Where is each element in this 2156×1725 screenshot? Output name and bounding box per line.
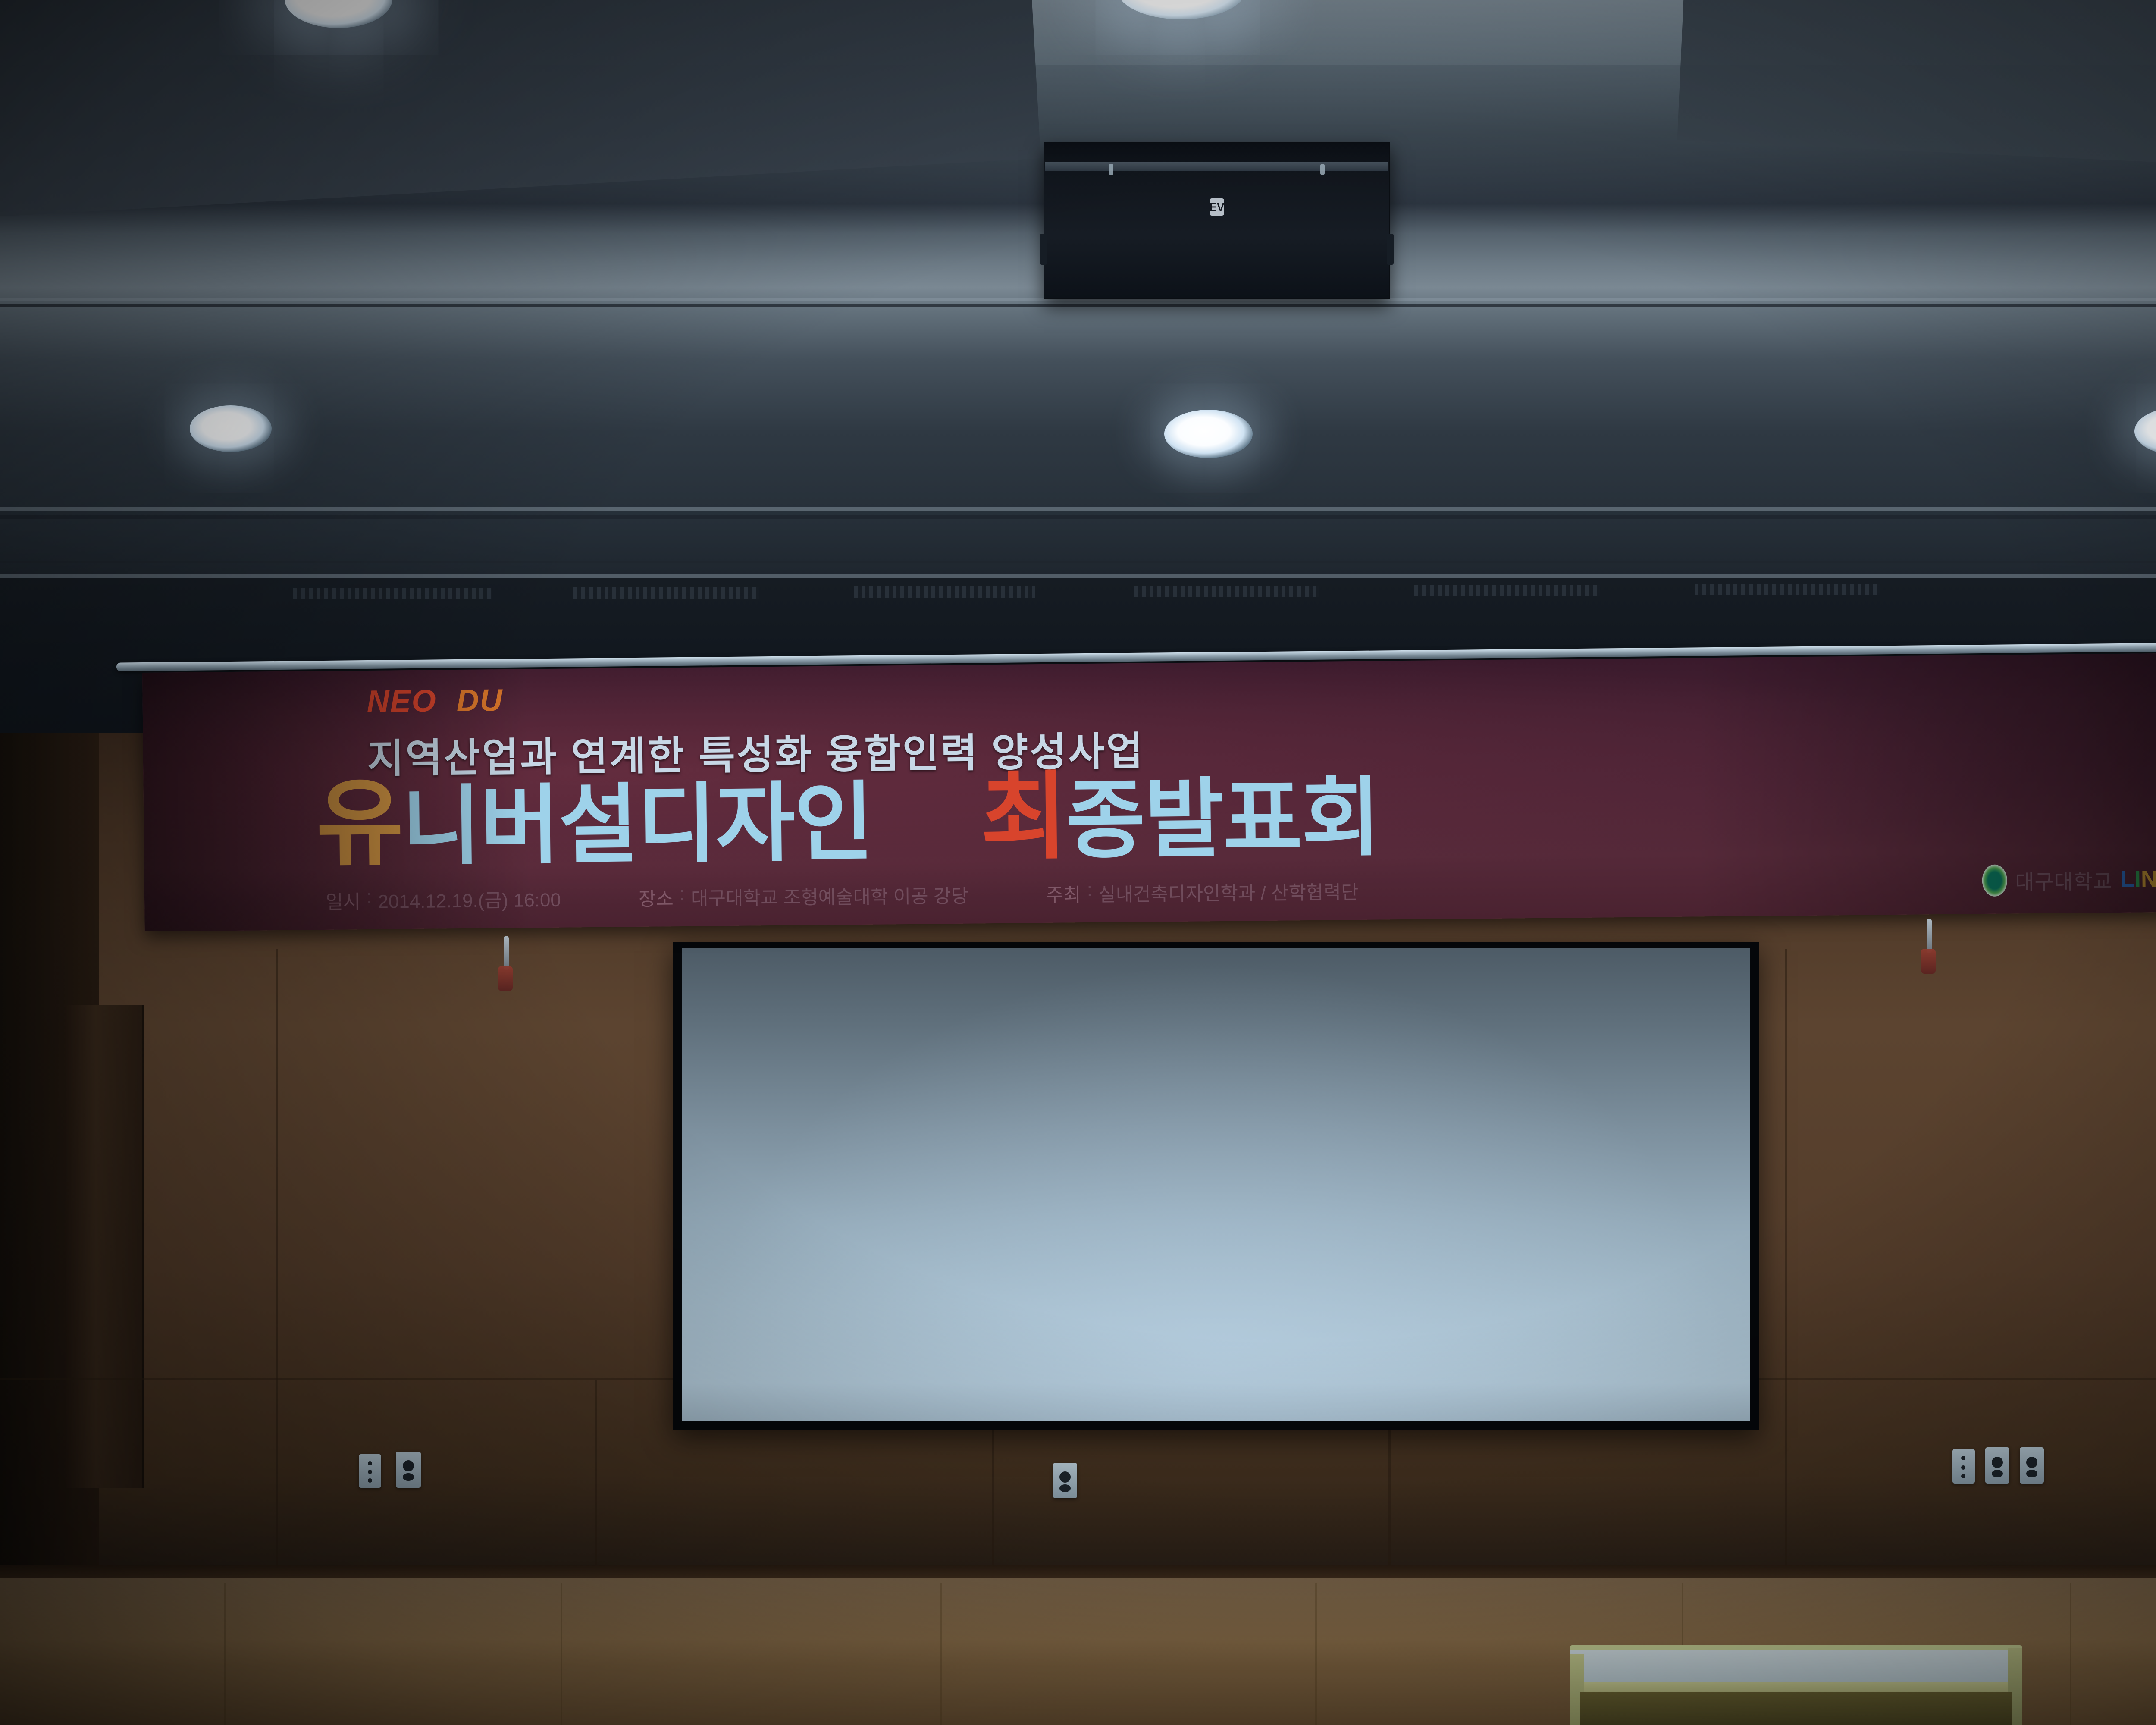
ceiling-soffit-right bbox=[1677, 0, 2156, 187]
wall-power-outlet bbox=[2020, 1447, 2044, 1483]
ceiling-seam-3 bbox=[0, 561, 2156, 563]
speaker-side-mount bbox=[1387, 234, 1394, 265]
linc-letter-n: N bbox=[2141, 866, 2156, 892]
lectern[interactable] bbox=[1570, 1645, 2022, 1725]
banner-hook-knob bbox=[498, 966, 513, 991]
title-blue-second: 종발표회 bbox=[1065, 777, 1380, 862]
jack-hole bbox=[1961, 1465, 1965, 1470]
ceiling-seam-highlight-2 bbox=[0, 507, 2156, 511]
linc-letter-i: I bbox=[2134, 866, 2141, 892]
wall-power-outlet bbox=[1985, 1447, 2009, 1483]
wall-panel-seam bbox=[1785, 949, 1787, 1578]
banner-sponsor-row: 대구대학교 LINC 사업단 bbox=[1982, 862, 2156, 897]
wall-data-jack bbox=[359, 1454, 381, 1488]
outlet-hole bbox=[403, 1473, 414, 1481]
floor-plank-seam bbox=[561, 1583, 562, 1725]
upper-wall-highlight bbox=[0, 574, 2156, 578]
jack-hole bbox=[368, 1461, 372, 1465]
banner-cloth: NEO DU 지역산업과 연계한 특성화 융합인력 양성사업 유 니버설디자인 … bbox=[142, 652, 2156, 931]
linc-wordmark: LINC bbox=[2120, 866, 2156, 893]
info-sep: : bbox=[679, 883, 685, 911]
info-sep: : bbox=[1087, 879, 1093, 907]
info-label-host: 주최 bbox=[1046, 879, 1081, 907]
banner-info-row: 일시 : 2014.12.19.(금) 16:00 장소 : 대구대학교 조형예… bbox=[326, 870, 2093, 914]
wall-panel-seam bbox=[276, 949, 278, 1578]
banner-program-logo: NEO DU bbox=[367, 685, 503, 717]
ceiling-vent bbox=[573, 587, 759, 599]
outlet-hole bbox=[1059, 1471, 1071, 1483]
university-name: 대구대학교 bbox=[2015, 864, 2112, 895]
wall-panel-seam bbox=[595, 1380, 597, 1583]
info-value-venue: 대구대학교 조형예술대학 이공 강당 bbox=[691, 881, 968, 911]
jack-hole bbox=[368, 1478, 372, 1483]
downlight-icon bbox=[2134, 408, 2156, 455]
jack-hole bbox=[368, 1470, 372, 1474]
speaker-brand-badge: EV bbox=[1210, 198, 1224, 216]
projection-screen-surface bbox=[682, 948, 1750, 1421]
floor-plank-seam bbox=[224, 1583, 226, 1725]
jack-hole bbox=[1961, 1456, 1965, 1460]
stage-side-door[interactable] bbox=[65, 1005, 144, 1488]
logo-du-text: DU bbox=[456, 685, 503, 716]
wall-data-jack bbox=[1952, 1449, 1975, 1483]
wall-power-outlet bbox=[396, 1452, 421, 1488]
event-banner: NEO DU 지역산업과 연계한 특성화 융합인력 양성사업 유 니버설디자인 … bbox=[142, 652, 2156, 936]
university-emblem-icon bbox=[1982, 865, 2008, 897]
logo-neo-text: NEO bbox=[367, 685, 437, 717]
ceiling-vent bbox=[293, 588, 492, 599]
title-accent-red: 최 bbox=[980, 772, 1066, 862]
title-spacer bbox=[873, 862, 981, 863]
ceiling-vent bbox=[854, 586, 1035, 598]
info-sep: : bbox=[367, 886, 372, 914]
ceiling-vent bbox=[1134, 586, 1319, 597]
outlet-hole bbox=[2026, 1457, 2037, 1468]
floor-plank-seam bbox=[940, 1583, 942, 1725]
banner-main-title: 유 니버설디자인 최 종발표회 bbox=[316, 768, 1380, 869]
title-accent-gold: 유 bbox=[316, 778, 402, 869]
banner-info-venue: 장소 : 대구대학교 조형예술대학 이공 강당 bbox=[639, 881, 969, 911]
info-value-datetime: 2014.12.19.(금) 16:00 bbox=[378, 884, 561, 914]
speaker-screw bbox=[1320, 164, 1325, 175]
banner-hook-knob bbox=[1921, 949, 1936, 974]
projection-screen-glow bbox=[682, 948, 1750, 1421]
floor-plank-seam bbox=[2070, 1583, 2071, 1725]
banner-info-datetime: 일시 : 2014.12.19.(금) 16:00 bbox=[326, 884, 561, 914]
jack-hole bbox=[1961, 1474, 1965, 1478]
linc-letter-l: L bbox=[2120, 866, 2135, 892]
ceiling-speaker: EV bbox=[1044, 142, 1390, 299]
floor-plank-seam bbox=[1315, 1583, 1317, 1725]
ceiling-vent bbox=[1695, 584, 1880, 595]
downlight-icon bbox=[190, 405, 272, 452]
banner-hook-strap bbox=[504, 936, 509, 970]
info-label-datetime: 일시 bbox=[326, 886, 361, 914]
outlet-hole bbox=[1992, 1470, 2003, 1477]
wall-power-outlet bbox=[1053, 1463, 1077, 1498]
info-value-host: 실내건축디자인학과 / 산학협력단 bbox=[1098, 877, 1359, 907]
ceiling: EV bbox=[0, 0, 2156, 599]
outlet-hole bbox=[1992, 1457, 2003, 1468]
outlet-hole bbox=[1059, 1484, 1071, 1492]
projection-screen bbox=[673, 942, 1759, 1430]
ceiling-vent bbox=[1414, 585, 1600, 596]
speaker-side-mount bbox=[1040, 234, 1047, 265]
speaker-mount-bar bbox=[1045, 162, 1388, 171]
room-photo: EV bbox=[0, 0, 2156, 1725]
banner-info-host: 주최 : 실내건축디자인학과 / 산학협력단 bbox=[1046, 877, 1359, 907]
banner-hook-strap bbox=[1927, 919, 1932, 953]
outlet-hole bbox=[403, 1460, 414, 1471]
ceiling-seam-1 bbox=[0, 304, 2156, 307]
speaker-screw bbox=[1109, 164, 1113, 175]
ceiling-seam-2 bbox=[0, 515, 2156, 519]
title-blue-first: 니버설디자인 bbox=[401, 782, 873, 868]
lectern-body bbox=[1580, 1692, 2012, 1725]
outlet-hole bbox=[2026, 1470, 2037, 1477]
downlight-icon bbox=[1164, 410, 1253, 458]
info-label-venue: 장소 bbox=[639, 883, 674, 911]
ceiling-soffit-left bbox=[0, 0, 1041, 221]
